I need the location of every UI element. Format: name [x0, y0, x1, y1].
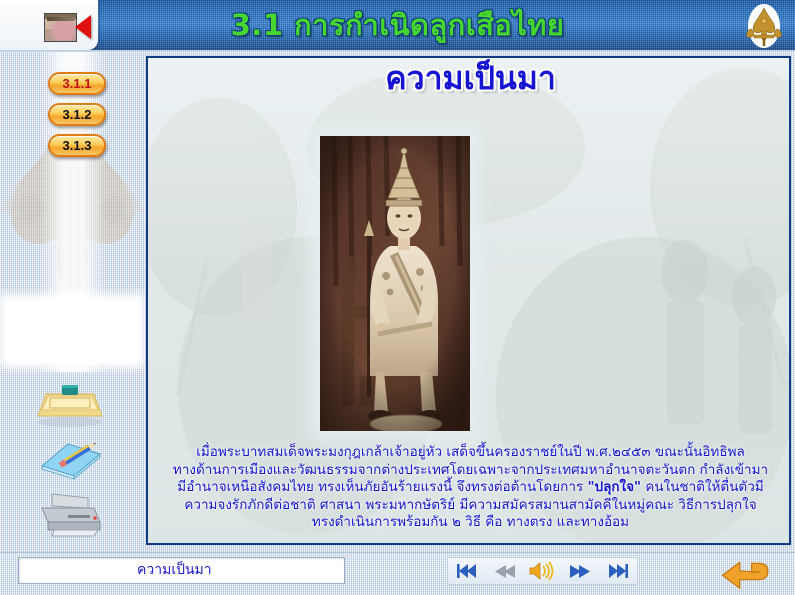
sound-button[interactable] [528, 559, 556, 583]
header-underline [0, 50, 795, 52]
paragraph-line-5: ทรงดำเนินการพร้อมกัน ๒ วิธี คือ ทางตรง แ… [156, 514, 785, 532]
application-window: 3.1.1 3.1.2 3.1.3 [0, 0, 795, 595]
video-thumbnail-icon [44, 13, 77, 42]
first-icon [456, 563, 478, 579]
body-paragraph: เมื่อพระบาทสมเด็จพระมงกุฎเกล้าเจ้าอยู่หั… [156, 444, 785, 532]
return-button[interactable] [712, 552, 782, 595]
sidebar-item-3-1-1[interactable]: 3.1.1 [48, 72, 106, 95]
previous-button[interactable] [491, 559, 519, 583]
content-panel: ความเป็นมา เมื่อพระบาทสมเด็จพระมงกุฎเกล้… [146, 56, 791, 545]
video-clip-button[interactable] [44, 13, 98, 43]
header-bar: 3.1 การกำเนิดลูกเสือไทย [0, 0, 795, 52]
last-icon [607, 563, 629, 579]
highlight-word: "ปลุกใจ" [587, 479, 641, 495]
previous-icon [493, 563, 517, 580]
sidebar-item-3-1-3[interactable]: 3.1.3 [48, 134, 106, 157]
paragraph-line-3-pre: มีอำนาจเหนือสังคมไทย ทรงเห็นภัยอันร้ายแร… [177, 479, 587, 495]
sidebar-blank-panel [6, 300, 138, 362]
paragraph-line-4: ความจงรักภักดีต่อชาติ ศาสนา พระมหากษัตริ… [156, 497, 785, 515]
sidebar-item-3-1-2[interactable]: 3.1.2 [48, 103, 106, 126]
printer-icon[interactable] [28, 488, 112, 538]
paragraph-line-1: เมื่อพระบาทสมเด็จพระมงกุฎเกล้าเจ้าอยู่หั… [156, 444, 785, 462]
status-title-field[interactable]: ความเป็นมา [18, 557, 345, 584]
scout-fleur-de-lis-emblem [741, 2, 787, 50]
paragraph-line-3-post: คนในชาติให้ตื่นตัวมี [641, 479, 764, 495]
last-button[interactable] [604, 559, 632, 583]
notepad-pencil-icon[interactable] [28, 432, 112, 482]
scanner-icon[interactable] [28, 378, 112, 428]
left-sidebar: 3.1.1 3.1.2 3.1.3 [0, 0, 145, 552]
next-button[interactable] [566, 559, 594, 583]
content-heading-text: ความเป็นมา [385, 59, 556, 97]
portrait-king-rama-vi [320, 136, 470, 431]
paragraph-line-3: มีอำนาจเหนือสังคมไทย ทรงเห็นภัยอันร้ายแร… [156, 479, 785, 497]
next-icon [568, 563, 592, 580]
return-arrow-icon [712, 552, 782, 595]
play-triangle-icon [75, 15, 91, 39]
page-title: 3.1 การกำเนิดลูกเสือไทย [0, 3, 795, 47]
content-heading: ความเป็นมา [148, 130, 791, 170]
first-button[interactable] [453, 559, 481, 583]
paragraph-line-2: ทางด้านการเมืองและวัฒนธรรมจากต่างประเทศโ… [156, 462, 785, 480]
speaker-icon [529, 561, 555, 581]
media-control-panel [447, 557, 638, 585]
